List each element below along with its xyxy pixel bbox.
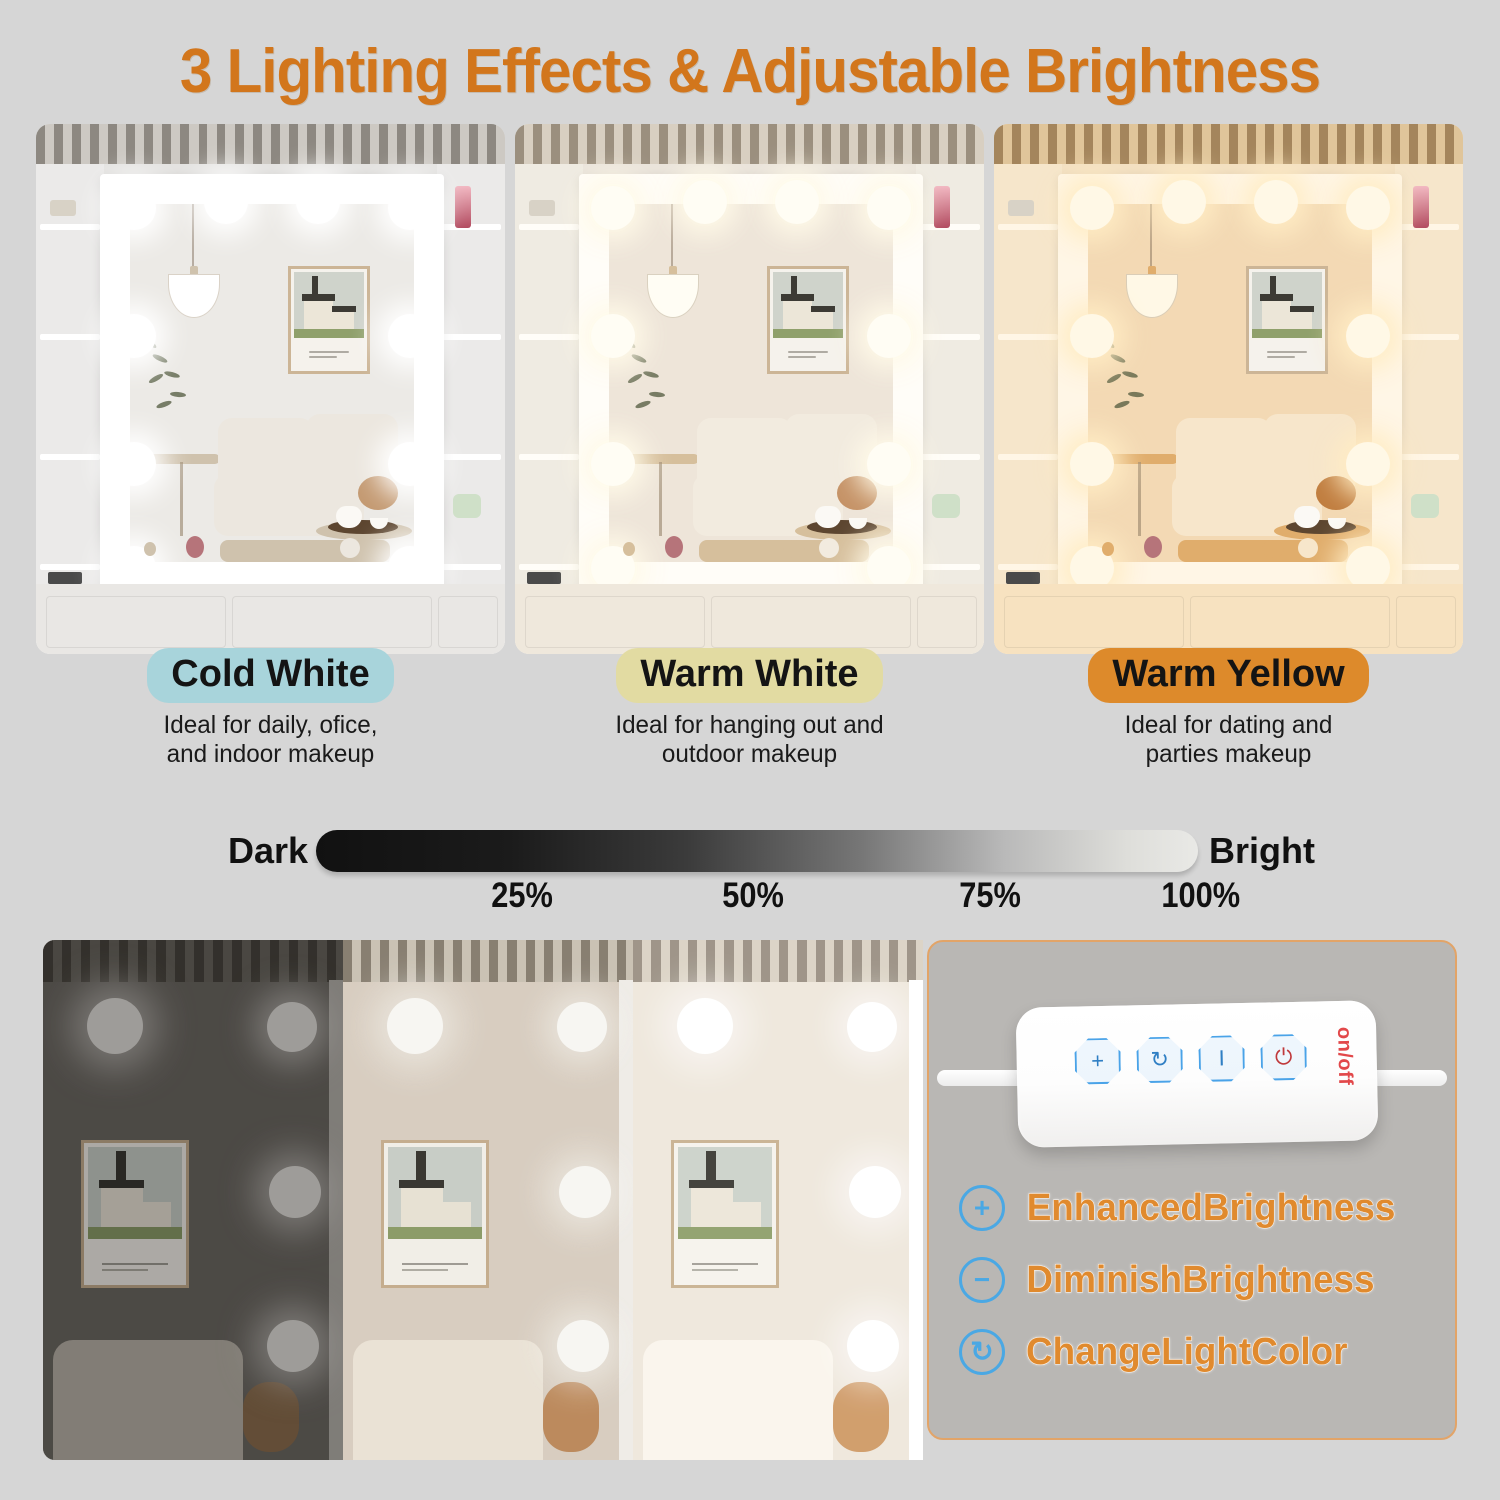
light-bulb	[112, 186, 156, 230]
light-bulb	[112, 442, 156, 486]
tick-75pct: 75%	[959, 876, 1021, 916]
dark-label: Dark	[228, 828, 308, 874]
wall-poster	[767, 266, 849, 374]
pumpkin-cushion	[243, 1382, 299, 1452]
light-bulb	[267, 1002, 317, 1052]
bottom-section: +↻I⏻on/off +EnhancedBrightness−DiminishB…	[43, 940, 1457, 1460]
tick-100pct: 100%	[1161, 876, 1240, 916]
brightness-gradient-bar[interactable]	[316, 830, 1198, 872]
light-bulb	[867, 186, 911, 230]
wall-poster	[81, 1140, 189, 1288]
wall-poster	[288, 266, 370, 374]
light-bulb	[388, 442, 432, 486]
left-shelf-unit	[994, 164, 1062, 654]
medium-level	[343, 940, 633, 1460]
light-bulb	[847, 1320, 899, 1372]
wall-poster	[381, 1140, 489, 1288]
mirror-frame-edge	[909, 980, 923, 1460]
light-bulb	[1346, 314, 1390, 358]
room	[36, 164, 505, 654]
light-bulb	[388, 314, 432, 358]
feature-list: +EnhancedBrightness−DiminishBrightness↻C…	[959, 1172, 1439, 1388]
light-bulb	[867, 442, 911, 486]
feature-label-diminish-brightness: DiminishBrightness	[1026, 1259, 1374, 1302]
bright-label: Bright	[1209, 828, 1315, 874]
label-col-cold-white: Cold WhiteIdeal for daily, ofice, and in…	[36, 648, 505, 778]
ceiling-stripes	[343, 940, 633, 988]
badge-cold-white: Cold White	[147, 648, 393, 703]
mirror-reflection	[1088, 204, 1372, 562]
light-bulb	[591, 442, 635, 486]
light-bulb	[559, 1166, 611, 1218]
right-shelf-unit	[916, 164, 984, 654]
bright-level	[633, 940, 923, 1460]
room	[994, 164, 1463, 654]
brightness-tick-labels: 25%50%75%100%	[0, 876, 1500, 924]
increase-brightness-button[interactable]: +	[1074, 1038, 1121, 1085]
tick-25pct: 25%	[491, 876, 553, 916]
scene-warm-white	[515, 124, 984, 654]
light-bulb	[1346, 442, 1390, 486]
light-bulb	[591, 314, 635, 358]
light-bulb	[267, 1320, 319, 1372]
light-bulb	[1070, 186, 1114, 230]
light-bulb	[683, 180, 727, 224]
feature-change-light-color: ↻ChangeLightColor	[959, 1316, 1439, 1388]
vanity-counter	[36, 584, 505, 654]
sofa	[53, 1340, 243, 1460]
ceiling-stripes	[43, 940, 343, 988]
feature-diminish-brightness: −DiminishBrightness	[959, 1244, 1439, 1316]
badge-warm-yellow: Warm Yellow	[1088, 648, 1368, 703]
infographic-page: 3 Lighting Effects & Adjustable Brightne…	[0, 0, 1500, 1500]
left-shelf-unit	[515, 164, 583, 654]
pumpkin-cushion	[543, 1382, 599, 1452]
light-bulb	[112, 314, 156, 358]
light-bulb	[204, 180, 248, 224]
caption-warm-yellow: Ideal for dating and parties makeup	[1001, 711, 1456, 770]
power-button[interactable]: ⏻	[1260, 1034, 1307, 1081]
light-bulb	[1070, 314, 1114, 358]
left-shelf-unit	[36, 164, 104, 654]
pumpkin-cushion	[833, 1382, 889, 1452]
room	[515, 164, 984, 654]
onoff-label: on/off	[1332, 1027, 1356, 1086]
brightness-level-photo	[43, 940, 923, 1460]
page-title: 3 Lighting Effects & Adjustable Brightne…	[45, 36, 1455, 107]
light-bulb	[1254, 180, 1298, 224]
light-bulb	[388, 186, 432, 230]
light-bulb	[387, 998, 443, 1054]
light-bulb	[849, 1166, 901, 1218]
caption-warm-white: Ideal for hanging out and outdoor makeup	[522, 711, 977, 770]
sofa	[353, 1340, 543, 1460]
change-color-button[interactable]: ↻	[1136, 1037, 1183, 1084]
mirror-frame-edge	[329, 980, 343, 1460]
label-col-warm-white: Warm WhiteIdeal for hanging out and outd…	[515, 648, 984, 778]
light-bulb	[591, 186, 635, 230]
mirror-frame-edge	[619, 980, 633, 1460]
light-bulb	[269, 1166, 321, 1218]
wall-poster	[671, 1140, 779, 1288]
scene-warm-yellow	[994, 124, 1463, 654]
plus-circle-icon: +	[959, 1185, 1005, 1231]
tick-50pct: 50%	[722, 876, 784, 916]
light-bulb	[1346, 186, 1390, 230]
light-bulb	[557, 1320, 609, 1372]
minus-circle-icon: −	[959, 1257, 1005, 1303]
light-bulb	[847, 1002, 897, 1052]
light-bulb	[87, 998, 143, 1054]
scene-cold-white	[36, 124, 505, 654]
wall-poster	[1246, 266, 1328, 374]
dim-level	[43, 940, 343, 1460]
badge-warm-white: Warm White	[616, 648, 882, 703]
feature-enhanced-brightness: +EnhancedBrightness	[959, 1172, 1439, 1244]
brightness-slider-section: Dark Bright 25%50%75%100%	[0, 828, 1500, 938]
feature-label-change-light-color: ChangeLightColor	[1026, 1331, 1347, 1374]
ceiling-stripes	[633, 940, 923, 988]
decrease-brightness-button[interactable]: I	[1198, 1035, 1245, 1082]
mirror-reflection	[130, 204, 414, 562]
right-shelf-unit	[1395, 164, 1463, 654]
right-shelf-unit	[437, 164, 505, 654]
light-bulb	[1070, 442, 1114, 486]
light-bulb	[1162, 180, 1206, 224]
refresh-circle-icon: ↻	[959, 1329, 1005, 1375]
feature-label-enhanced-brightness: EnhancedBrightness	[1027, 1187, 1396, 1230]
light-bulb	[296, 180, 340, 224]
remote-control-card: +↻I⏻on/off +EnhancedBrightness−DiminishB…	[927, 940, 1457, 1440]
caption-cold-white: Ideal for daily, ofice, and indoor makeu…	[43, 711, 498, 770]
mirror-reflection	[609, 204, 893, 562]
scene-panels	[36, 124, 1464, 654]
light-bulb	[557, 1002, 607, 1052]
light-bulb	[677, 998, 733, 1054]
sofa	[643, 1340, 833, 1460]
vanity-counter	[515, 584, 984, 654]
scene-labels: Cold WhiteIdeal for daily, ofice, and in…	[36, 648, 1464, 778]
light-bulb	[775, 180, 819, 224]
label-col-warm-yellow: Warm YellowIdeal for dating and parties …	[994, 648, 1463, 778]
vanity-counter	[994, 584, 1463, 654]
light-bulb	[867, 314, 911, 358]
remote-button-row: +↻I⏻on/off	[1074, 1027, 1356, 1091]
remote-controller[interactable]: +↻I⏻on/off	[1016, 1000, 1379, 1148]
